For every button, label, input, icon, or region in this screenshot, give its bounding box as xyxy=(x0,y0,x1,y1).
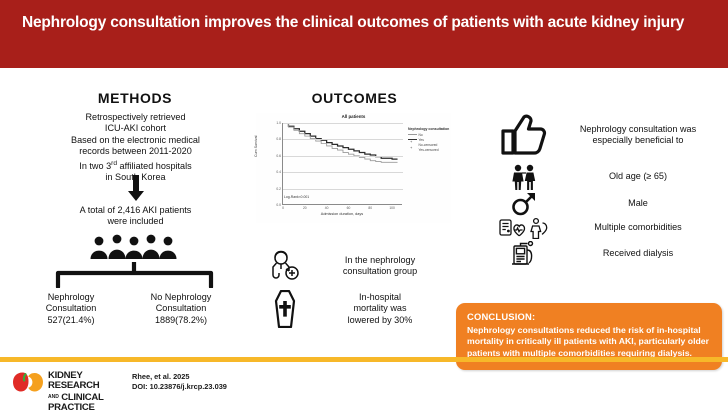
thumbs-up-icon xyxy=(494,112,554,158)
chart-legend-label: Yes xyxy=(419,138,424,142)
chart-curves xyxy=(283,123,403,205)
chart-y-tick-label: 0.6 xyxy=(276,154,281,158)
chart-legend-label: No-censored xyxy=(419,143,438,147)
benefits-headline-row: Nephrology consultation was especially b… xyxy=(494,112,722,158)
chart-legend: Nephrology consultation NoYesNo-censored… xyxy=(408,127,450,152)
people-group-icon xyxy=(87,233,180,259)
chart-y-tick-label: 0.4 xyxy=(276,170,281,174)
elderly-couple-icon xyxy=(494,164,554,190)
chart-x-tick-label: 100 xyxy=(389,206,395,210)
chart-x-tick-label: 80 xyxy=(368,206,372,210)
methods-total-line1: A total of 2,416 AKI patients xyxy=(28,205,243,216)
outcome-text-mortality: In-hospital mortality was lowered by 30% xyxy=(308,292,452,326)
chart-plot-area: 1.00.80.60.40.20.0 020406080100 xyxy=(282,123,402,205)
methods-total-line2: were included xyxy=(28,216,243,227)
outcome-row2-line3: lowered by 30% xyxy=(308,315,452,326)
chart-y-tick-label: 0.2 xyxy=(276,187,281,191)
branch-right-line1: No Nephrology xyxy=(126,292,236,303)
chart-x-tick-label: 0 xyxy=(282,206,284,210)
benefit-row-old-age: Old age (≥ 65) xyxy=(494,164,722,190)
outcome-row2-line1: In-hospital xyxy=(308,292,452,303)
branch-left-value: 527(21.4%) xyxy=(16,315,126,326)
dialysis-machine-icon xyxy=(494,241,554,267)
benefit-label-comorbidities: Multiple comorbidities xyxy=(554,222,722,233)
outcome-row-mortality: In-hospital mortality was lowered by 30% xyxy=(262,290,452,328)
benefits-headline-line1: Nephrology consultation was xyxy=(554,124,722,135)
chart-gridline xyxy=(283,172,403,173)
chart-y-tick-label: 0.0 xyxy=(276,203,281,207)
header-banner: Nephrology consultation improves the cli… xyxy=(0,0,728,68)
doctor-icon xyxy=(262,250,308,282)
split-bracket xyxy=(52,262,217,288)
branch-right-line2: Consultation xyxy=(126,303,236,314)
chart-series-yes xyxy=(283,123,398,159)
chart-legend-items: NoYesNo-censoredYes-censored xyxy=(408,133,450,153)
outcome-row-consultation-group: In the nephrology consultation group xyxy=(262,250,452,282)
male-symbol-icon xyxy=(494,192,554,216)
chart-legend-label: No xyxy=(419,133,423,137)
branch-left-line1: Nephrology xyxy=(16,292,126,303)
chart-legend-item: No-censored xyxy=(408,143,450,147)
chart-legend-title: Nephrology consultation xyxy=(408,127,450,131)
chart-x-tick-label: 40 xyxy=(325,206,329,210)
chart-y-tick-label: 0.8 xyxy=(276,137,281,141)
chart-annotation-logrank: Log-Rank<0.001 xyxy=(284,195,309,199)
coffin-icon xyxy=(262,290,308,328)
methods-heading: METHODS xyxy=(40,90,230,106)
chart-gridline xyxy=(283,123,403,124)
benefit-label-dialysis: Received dialysis xyxy=(554,248,722,259)
chart-gridline xyxy=(283,156,403,157)
methods-line-0: Retrospectively retrieved xyxy=(28,112,243,123)
branch-left-line2: Consultation xyxy=(16,303,126,314)
journal-logo-line2: AND CLINICAL PRACTICE xyxy=(48,392,128,413)
survival-chart: All patients 1.00.80.60.40.20.0 02040608… xyxy=(256,113,451,223)
methods-line-2: Based on the electronic medical xyxy=(28,135,243,146)
chart-legend-item: Yes xyxy=(408,138,450,142)
conclusion-text: Nephrology consultations reduced the ris… xyxy=(467,325,711,359)
benefits-headline-text: Nephrology consultation was especially b… xyxy=(554,124,722,147)
benefits-headline-line2: especially beneficial to xyxy=(554,135,722,146)
chart-legend-swatch xyxy=(408,134,417,135)
ordinal-suffix: rd xyxy=(111,160,117,167)
outcome-row1-line1: In the nephrology xyxy=(308,255,452,266)
benefit-label-old-age: Old age (≥ 65) xyxy=(554,171,722,182)
benefit-label-male: Male xyxy=(554,198,722,209)
chart-y-axis-label: Cum Survival xyxy=(254,136,258,157)
journal-logo-and: AND xyxy=(48,394,59,400)
chart-legend-item: Yes-censored xyxy=(408,148,450,152)
conclusion-label: CONCLUSION: xyxy=(467,311,711,323)
outcomes-heading: OUTCOMES xyxy=(272,90,437,106)
outcome-text-consultation-group: In the nephrology consultation group xyxy=(308,255,452,278)
methods-line-3: records between 2011-2020 xyxy=(28,146,243,157)
citation-doi: DOI: 10.23876/j.krcp.23.039 xyxy=(132,382,227,392)
citation-block: Rhee, et al. 2025 DOI: 10.23876/j.krcp.2… xyxy=(132,372,227,391)
chart-legend-label: Yes-censored xyxy=(419,148,439,152)
chart-gridline xyxy=(283,139,403,140)
chart-legend-swatch xyxy=(408,149,417,152)
benefit-row-male: Male xyxy=(494,192,722,216)
chart-y-tick-label: 1.0 xyxy=(276,121,281,125)
chart-legend-item: No xyxy=(408,133,450,137)
comorbidities-icon xyxy=(494,217,554,239)
chart-x-axis-label: Admission duration, days xyxy=(282,212,402,216)
branch-no-nephrology-consultation: No Nephrology Consultation 1889(78.2%) xyxy=(126,292,236,326)
chart-x-tick-label: 60 xyxy=(347,206,351,210)
citation-authors: Rhee, et al. 2025 xyxy=(132,372,227,382)
branch-nephrology-consultation: Nephrology Consultation 527(21.4%) xyxy=(16,292,126,326)
down-arrow-icon xyxy=(126,175,146,201)
kidney-logo-icon xyxy=(12,371,46,393)
journal-logo-line1: KIDNEY RESEARCH xyxy=(48,371,128,391)
methods-total-patients: A total of 2,416 AKI patients were inclu… xyxy=(28,205,243,228)
chart-title: All patients xyxy=(256,114,451,119)
outcome-row2-line2: mortality was xyxy=(308,303,452,314)
footer-accent-bar xyxy=(0,357,728,362)
outcome-row1-line2: consultation group xyxy=(308,266,452,277)
methods-line-1: ICU-AKI cohort xyxy=(28,123,243,134)
chart-gridline xyxy=(283,189,403,190)
methods-description: Retrospectively retrieved ICU-AKI cohort… xyxy=(28,112,243,183)
page-title: Nephrology consultation improves the cli… xyxy=(22,12,712,33)
branch-right-value: 1889(78.2%) xyxy=(126,315,236,326)
methods-line-4: In two 3rd affiliated hospitals xyxy=(28,158,243,172)
chart-x-tick-label: 20 xyxy=(303,206,307,210)
benefit-row-dialysis: Received dialysis xyxy=(494,241,722,267)
benefit-row-comorbidities: Multiple comorbidities xyxy=(494,217,722,239)
